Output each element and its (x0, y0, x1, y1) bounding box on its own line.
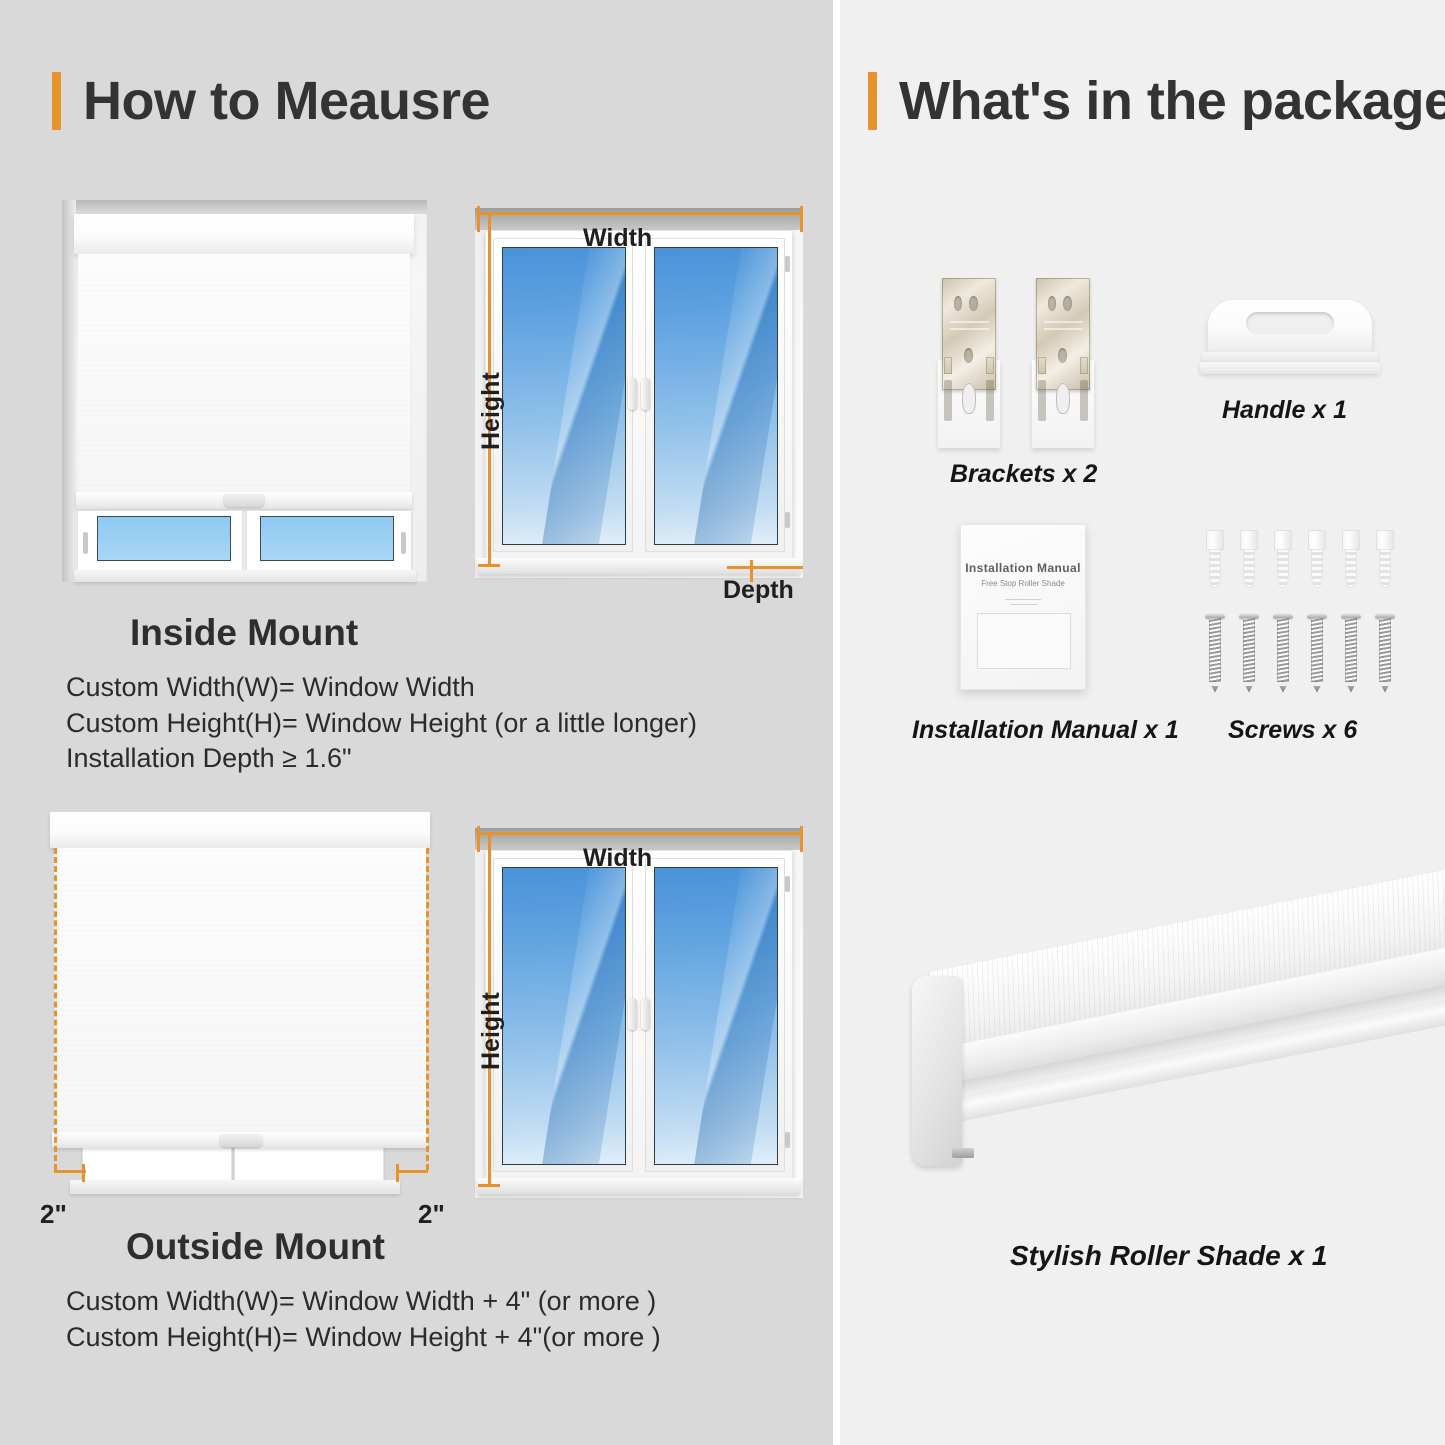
manual-scribble-1 (1005, 599, 1041, 600)
depth-label: Depth (723, 576, 794, 605)
brackets-label: Brackets x 2 (950, 460, 1097, 489)
screw-6 (1379, 612, 1391, 688)
window-glass-left (502, 867, 626, 1165)
bracket-metal-body (1036, 278, 1091, 390)
outside-mount-line-1: Custom Width(W)= Window Width + 4" (or m… (66, 1284, 661, 1320)
height-measure-cap-top (478, 832, 500, 835)
outside-mount-title: Outside Mount (126, 1226, 385, 1268)
screw-shaft (1277, 618, 1289, 682)
roller-shade-end-pin (952, 1148, 974, 1158)
installation-manual-item: Installation Manual Free Stop Roller Sha… (960, 524, 1086, 690)
window-hinge-top (785, 876, 790, 892)
bracket-slot-right (1080, 380, 1087, 421)
manual-cover-title: Installation Manual (961, 561, 1085, 575)
wall-anchor-2 (1240, 530, 1258, 588)
screw-shaft (1345, 618, 1357, 682)
bracket-stripe-2 (950, 328, 988, 330)
width-measure-cap-right (800, 206, 803, 232)
inside-mount-shade-illustration (52, 192, 437, 590)
outside-mount-line-2: Custom Height(H)= Window Height + 4"(or … (66, 1320, 661, 1356)
width-measure-line (477, 212, 803, 215)
anchor-head (1376, 530, 1394, 550)
roller-shade-item (900, 900, 1440, 1220)
inside-mount-title: Inside Mount (130, 612, 358, 654)
manual-cover-subtitle: Free Stop Roller Shade (961, 579, 1085, 588)
anchor-body (1311, 549, 1324, 588)
shade-headrail (74, 214, 414, 254)
bracket-keyhole (1056, 383, 1071, 414)
recess-top-shadow (62, 200, 427, 214)
anchor-head (1342, 530, 1360, 550)
shade-pull-handle[interactable] (224, 494, 264, 507)
shade-headrail (50, 812, 430, 848)
inside-mount-line-1: Custom Width(W)= Window Width (66, 670, 697, 706)
window-sill (74, 570, 416, 582)
window-sash-right (645, 238, 785, 552)
window-sash-left (493, 858, 633, 1172)
inside-mount-line-2: Custom Height(H)= Window Height (or a li… (66, 706, 697, 742)
overhang-cap-left (82, 1164, 85, 1182)
wall-anchor-3 (1274, 530, 1292, 588)
wall-anchor-5 (1342, 530, 1360, 588)
overhang-guide-left (54, 848, 57, 1170)
window-glass-right (654, 867, 778, 1165)
height-measure-cap-bottom (478, 1184, 500, 1187)
depth-measure-line (727, 566, 803, 569)
screw-shaft (1311, 618, 1323, 682)
bracket-slot-left (944, 380, 951, 421)
screw-shaft (1209, 618, 1221, 682)
anchor-body (1379, 549, 1392, 588)
bracket-tab-right (986, 357, 994, 375)
roller-shade-label: Stylish Roller Shade x 1 (1010, 1240, 1327, 1272)
handle-item (1208, 300, 1372, 354)
inside-mount-description: Custom Width(W)= Window Width Custom Hei… (66, 670, 697, 777)
manual-scribble-2 (1011, 604, 1037, 605)
window-hinge-left (83, 532, 88, 554)
outside-mount-description: Custom Width(W)= Window Width + 4" (or m… (66, 1284, 661, 1355)
bracket-hole-2 (969, 296, 978, 311)
installation-manual-label: Installation Manual x 1 (912, 716, 1179, 745)
anchor-body (1209, 549, 1222, 588)
bracket-tab-left (944, 357, 952, 375)
bracket-hole-1 (954, 296, 963, 311)
window-frame (485, 230, 793, 560)
handle-label: Handle x 1 (1222, 396, 1347, 425)
screw-3 (1277, 612, 1289, 688)
bracket-item-2 (1032, 278, 1094, 448)
window-hinge-bottom (785, 512, 790, 528)
anchor-head (1274, 530, 1292, 550)
overhang-guide-right (426, 848, 429, 1170)
roller-shade-end-cap (912, 976, 962, 1166)
bracket-stripe-1 (1044, 321, 1082, 323)
bracket-item-1 (938, 278, 1000, 448)
window-sash-right (246, 510, 412, 572)
window-hinge-bottom (785, 1132, 790, 1148)
width-measure-line (477, 832, 803, 835)
window-glass-left (97, 516, 231, 561)
bracket-slot-left (1038, 380, 1045, 421)
package-heading-text: What's in the package (899, 74, 1445, 128)
window-sash-left (77, 510, 243, 572)
wall-anchor-4 (1308, 530, 1326, 588)
wall-anchor-6 (1376, 530, 1394, 588)
height-measure-cap-top (478, 212, 500, 215)
accent-bar-icon (868, 72, 877, 130)
how-to-measure-heading-text: How to Meausre (83, 74, 490, 128)
handle-lip-2 (1200, 362, 1380, 374)
window-hinge-right (401, 532, 406, 554)
handle-lip-1 (1202, 352, 1378, 362)
shade-pull-handle[interactable] (220, 1134, 262, 1147)
inside-mount-line-3: Installation Depth ≥ 1.6" (66, 741, 697, 777)
bracket-keyhole (962, 383, 977, 414)
overhang-measure-right (396, 1170, 428, 1173)
screws-label: Screws x 6 (1228, 716, 1357, 745)
infographic-canvas: How to Meausre What's in the package (0, 0, 1445, 1445)
anchor-body (1345, 549, 1358, 588)
window-sash-left (493, 238, 633, 552)
width-measure-cap-right (800, 826, 803, 852)
width-measure-cap-left (477, 826, 480, 852)
height-measure-cap-bottom (478, 564, 500, 567)
anchor-head (1308, 530, 1326, 550)
window-frame (485, 850, 793, 1180)
overhang-cap-right (396, 1164, 399, 1182)
width-measure-cap-left (477, 206, 480, 232)
bracket-hole-3 (964, 348, 974, 364)
inside-mount-measure-diagram: Width Height Depth (455, 200, 815, 600)
screw-shaft (1379, 618, 1391, 682)
anchor-body (1243, 549, 1256, 588)
window-glass-right (260, 516, 394, 561)
anchor-head (1240, 530, 1258, 550)
outside-mount-shade-illustration (30, 806, 450, 1206)
window-glass-left (502, 247, 626, 545)
window-handle-right[interactable] (641, 998, 650, 1030)
screw-shaft (1243, 618, 1255, 682)
screw-2 (1243, 612, 1255, 688)
window-sash-right (645, 858, 785, 1172)
accent-bar-icon (52, 72, 61, 130)
screw-4 (1311, 612, 1323, 688)
screw-5 (1345, 612, 1357, 688)
bracket-hole-3 (1058, 348, 1068, 364)
window-sill (477, 1178, 801, 1194)
window-glass-right (654, 247, 778, 545)
height-label: Height (477, 992, 506, 1070)
width-label: Width (583, 844, 652, 873)
handle-slot (1246, 312, 1334, 334)
wall-anchor-1 (1206, 530, 1224, 588)
screw-1 (1209, 612, 1221, 688)
bracket-tab-right (1080, 357, 1088, 375)
bracket-slot-right (986, 380, 993, 421)
manual-cover-figure (977, 613, 1071, 669)
window-handle-right[interactable] (641, 378, 650, 410)
anchor-head (1206, 530, 1224, 550)
shade-fabric (54, 848, 426, 1136)
panel-divider (833, 0, 840, 1445)
height-label: Height (477, 372, 506, 450)
window-handle-left[interactable] (628, 998, 637, 1030)
window-hinge-top (785, 256, 790, 272)
outside-mount-measure-diagram: Width Height (455, 820, 815, 1220)
overhang-label-right: 2" (418, 1199, 445, 1230)
anchor-body (1277, 549, 1290, 588)
window-sill (70, 1180, 400, 1194)
width-label: Width (583, 224, 652, 253)
bracket-stripe-1 (950, 321, 988, 323)
package-heading: What's in the package (868, 72, 1445, 130)
bracket-stripe-2 (1044, 328, 1082, 330)
how-to-measure-heading: How to Meausre (52, 72, 490, 130)
bracket-hole-2 (1063, 296, 1072, 311)
bracket-tab-left (1038, 357, 1046, 375)
overhang-label-left: 2" (40, 1199, 67, 1230)
recess-left-shadow (62, 200, 76, 582)
bracket-hole-1 (1048, 296, 1057, 311)
shade-fabric (78, 254, 410, 496)
bracket-metal-body (942, 278, 997, 390)
window-handle-left[interactable] (628, 378, 637, 410)
